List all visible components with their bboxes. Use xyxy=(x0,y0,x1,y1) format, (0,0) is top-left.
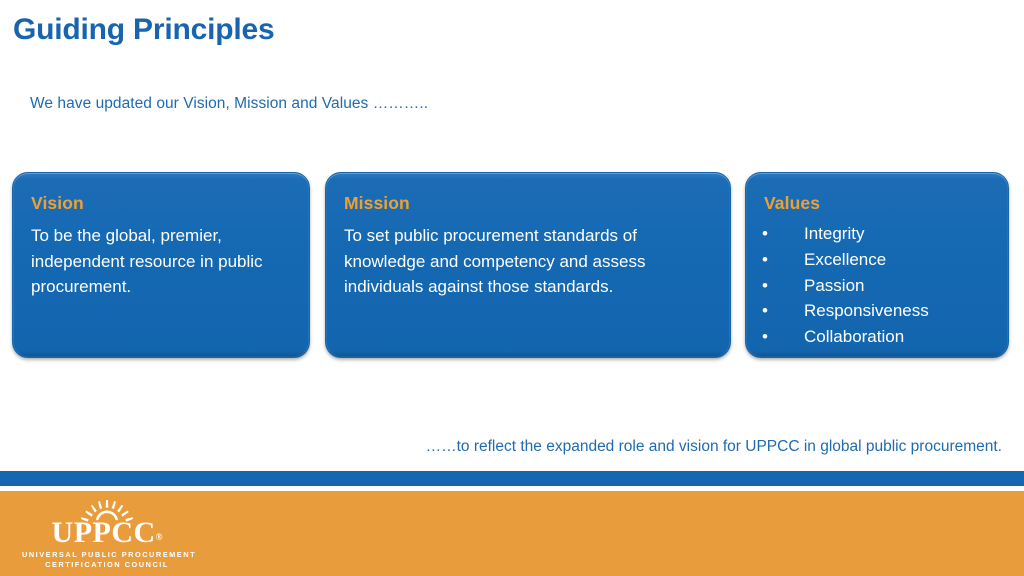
list-item-label: Passion xyxy=(804,276,864,295)
intro-text: We have updated our Vision, Mission and … xyxy=(30,95,428,113)
footer-blue-bar xyxy=(0,471,1024,486)
values-card-heading: Values xyxy=(764,193,820,214)
list-item-label: Responsiveness xyxy=(804,301,929,320)
closing-text: ……to reflect the expanded role and visio… xyxy=(426,438,1002,456)
list-item: • Passion xyxy=(762,273,929,299)
bullet-icon: • xyxy=(762,324,776,350)
bullet-icon: • xyxy=(762,247,776,273)
mission-card: Mission To set public procurement standa… xyxy=(325,172,731,358)
logo-tagline-line2: CERTIFICATION COUNCIL xyxy=(22,560,192,569)
vision-card: Vision To be the global, premier, indepe… xyxy=(12,172,310,358)
page-title: Guiding Principles xyxy=(13,13,274,47)
list-item: • Excellence xyxy=(762,247,929,273)
bullet-icon: • xyxy=(762,298,776,324)
list-item-label: Integrity xyxy=(804,224,864,243)
vision-card-body: To be the global, premier, independent r… xyxy=(31,223,299,300)
logo-wordmark: UPPCC® xyxy=(22,518,192,552)
mission-card-heading: Mission xyxy=(344,193,410,214)
vision-card-heading: Vision xyxy=(31,193,84,214)
uppcc-logo: UPPCC® UNIVERSAL PUBLIC PROCUREMENT CERT… xyxy=(22,500,192,570)
values-list: • Integrity • Excellence • Passion • Res… xyxy=(762,221,929,350)
list-item: • Responsiveness xyxy=(762,298,929,324)
list-item-label: Excellence xyxy=(804,250,886,269)
list-item-label: Collaboration xyxy=(804,327,904,346)
principles-card-row: Vision To be the global, premier, indepe… xyxy=(0,172,1024,362)
list-item: • Integrity xyxy=(762,221,929,247)
bullet-icon: • xyxy=(762,273,776,299)
logo-tagline-line1: UNIVERSAL PUBLIC PROCUREMENT xyxy=(22,550,192,559)
logo-wordmark-text: UPPCC xyxy=(52,516,156,549)
mission-card-body: To set public procurement standards of k… xyxy=(344,223,718,300)
logo-trademark: ® xyxy=(156,532,163,542)
values-card: Values • Integrity • Excellence • Passio… xyxy=(745,172,1009,358)
list-item: • Collaboration xyxy=(762,324,929,350)
bullet-icon: • xyxy=(762,221,776,247)
